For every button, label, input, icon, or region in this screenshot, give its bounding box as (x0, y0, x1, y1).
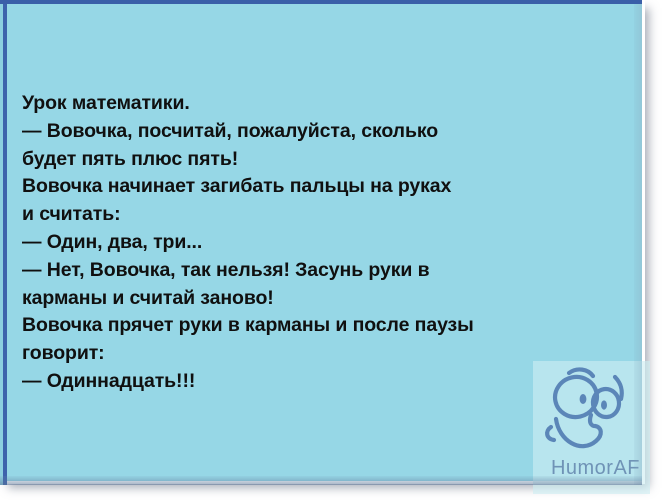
joke-line: карманы и считай заново! (22, 285, 622, 313)
card-bottom-edge (0, 476, 642, 485)
card-left-border (3, 4, 7, 485)
joke-text-block: Урок математики. — Вовочка, посчитай, по… (22, 90, 622, 396)
joke-line: Вовочка начинает загибать пальцы на рука… (22, 173, 622, 201)
card-right-edge (634, 4, 642, 485)
joke-line: — Нет, Вовочка, так нельзя! Засунь руки … (22, 257, 622, 285)
joke-line: говорит: (22, 340, 622, 368)
joke-line: и считать: (22, 201, 622, 229)
joke-line: — Один, два, три... (22, 229, 622, 257)
smiley-face-icon (533, 361, 650, 461)
joke-line: Вовочка прячет руки в карманы и после па… (22, 312, 622, 340)
watermark: HumorAF (533, 361, 650, 494)
joke-image: Урок математики. — Вовочка, посчитай, по… (0, 0, 662, 500)
joke-line: будет пять плюс пять! (22, 146, 622, 174)
joke-line: — Одиннадцать!!! (22, 368, 622, 396)
joke-line: Урок математики. (22, 90, 622, 118)
joke-card: Урок математики. — Вовочка, посчитай, по… (0, 0, 642, 481)
joke-line: — Вовочка, посчитай, пожалуйста, сколько (22, 118, 622, 146)
